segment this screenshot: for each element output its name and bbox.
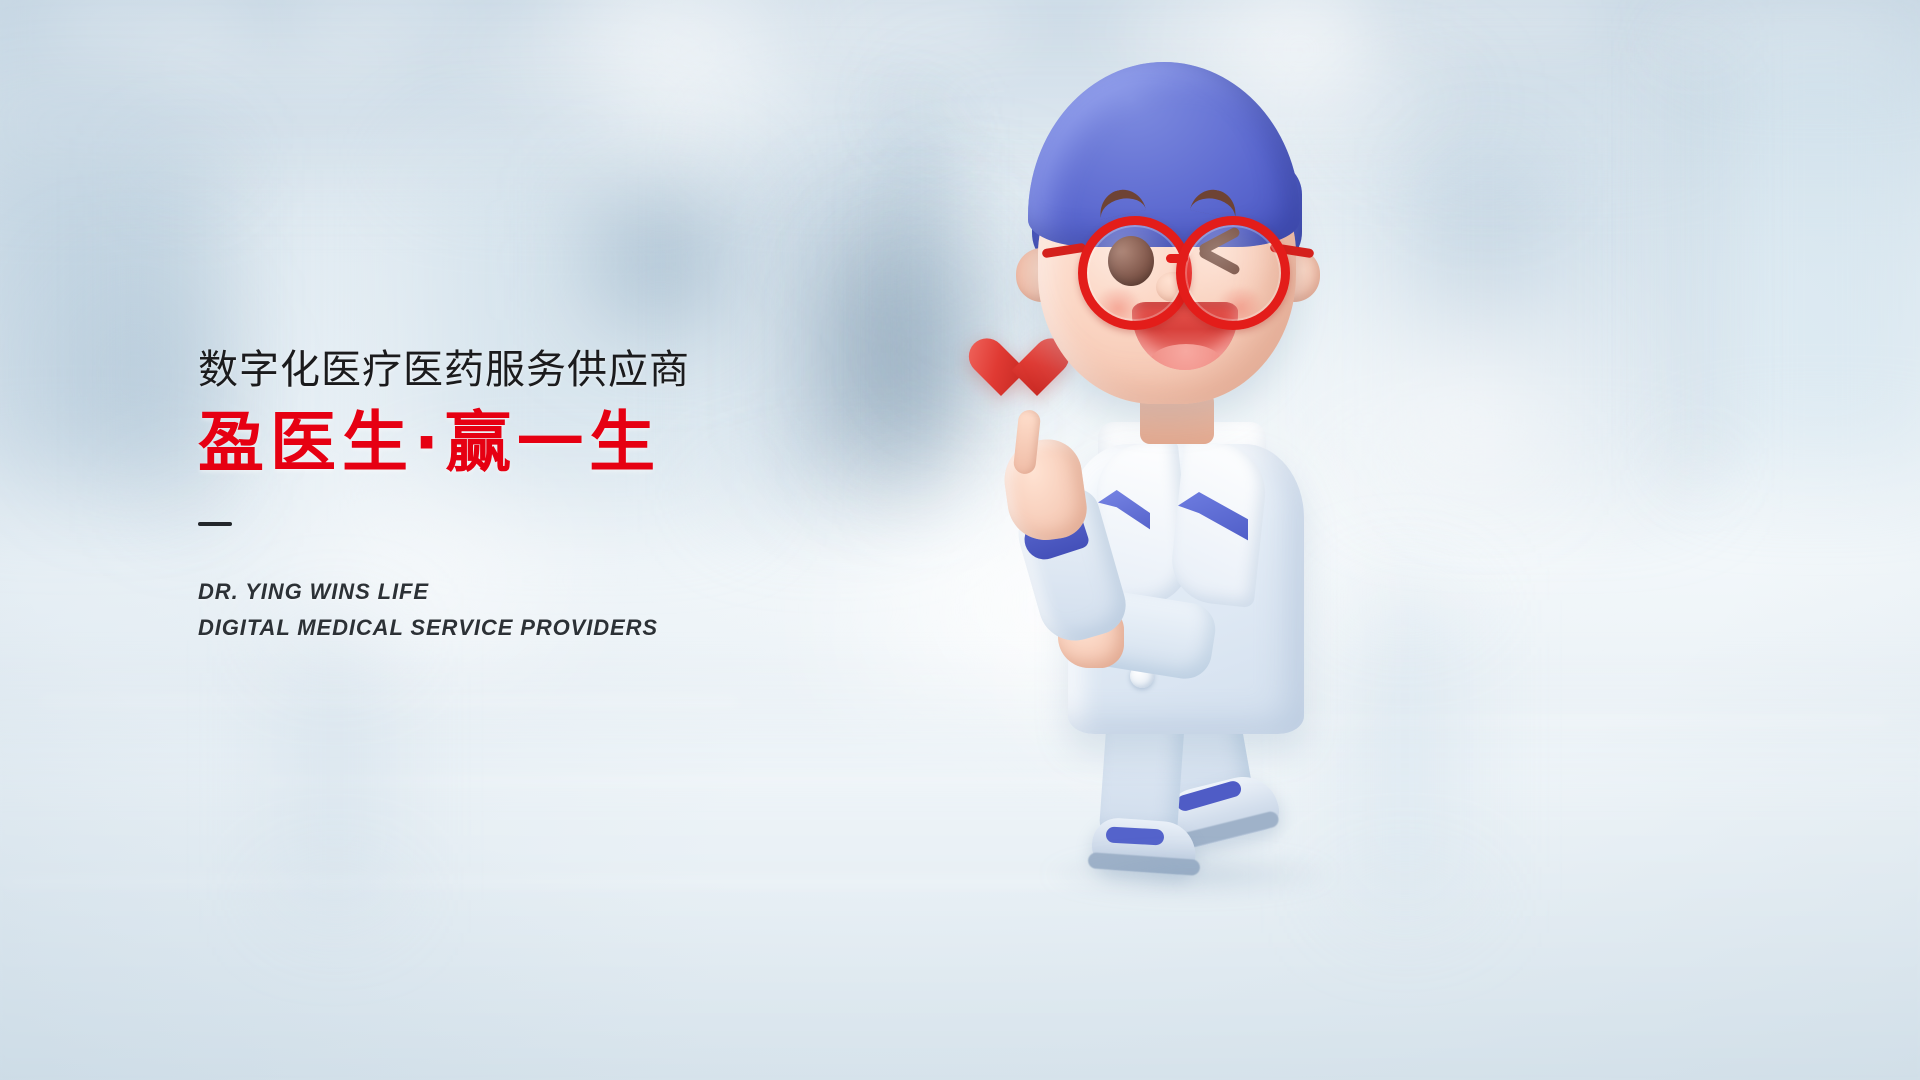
hero-english-line-2: DIGITAL MEDICAL SERVICE PROVIDERS — [198, 610, 918, 646]
hero-copy: 数字化医疗医药服务供应商 盈医生·赢一生 DR. YING WINS LIFE … — [198, 348, 918, 645]
hero-english-block: DR. YING WINS LIFE DIGITAL MEDICAL SERVI… — [198, 574, 918, 645]
glasses-lens-right — [1176, 216, 1290, 330]
hero-subtitle: 数字化医疗医药服务供应商 — [198, 348, 918, 393]
mascot-hair — [1028, 62, 1300, 247]
mascot-shoe-strap-left — [1106, 826, 1165, 845]
mascot-doctor-character — [980, 40, 1400, 850]
hero-headline: 盈医生·赢一生 — [198, 407, 918, 478]
hero-banner: 数字化医疗医药服务供应商 盈医生·赢一生 DR. YING WINS LIFE … — [0, 0, 1920, 1080]
heart-icon — [984, 340, 1052, 402]
glasses-lens-left — [1078, 216, 1192, 330]
hero-english-line-1: DR. YING WINS LIFE — [198, 574, 918, 610]
mascot-tongue — [1150, 344, 1222, 370]
hero-divider — [198, 522, 232, 526]
mascot-ground-shadow — [1040, 852, 1340, 896]
glasses-bridge — [1166, 254, 1188, 263]
